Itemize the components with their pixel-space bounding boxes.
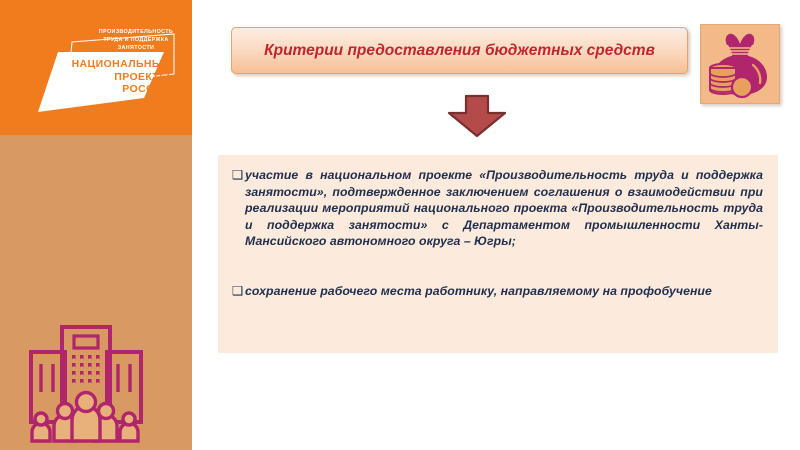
content-panel: ❑ участие в национальном проекте «Произв… <box>218 155 778 353</box>
list-item: ❑ участие в национальном проекте «Произв… <box>232 167 763 250</box>
list-item-text: сохранение рабочего места работнику, нап… <box>245 283 763 300</box>
logo-top-line: ПРОИЗВОДИТЕЛЬНОСТЬ ТРУДА И ПОДДЕРЖКА ЗАН… <box>84 28 188 53</box>
natsionalnye-proekty-rossii-logo: ПРОИЗВОДИТЕЛЬНОСТЬ ТРУДА И ПОДДЕРЖКА ЗАН… <box>28 20 180 118</box>
bullet-marker-icon: ❑ <box>232 283 245 300</box>
down-arrow-icon <box>444 93 510 139</box>
building-with-people-glyph <box>22 322 150 444</box>
building-with-people-icon <box>22 322 150 444</box>
down-arrow-glyph <box>444 93 510 139</box>
money-bag-icon <box>701 25 779 103</box>
list-item-text: участие в национальном проекте «Производ… <box>245 167 763 250</box>
page-title: Критерии предоставления бюджетных средст… <box>250 41 669 60</box>
left-side-band: ПРОИЗВОДИТЕЛЬНОСТЬ ТРУДА И ПОДДЕРЖКА ЗАН… <box>0 0 192 450</box>
title-banner: Критерии предоставления бюджетных средст… <box>231 27 688 74</box>
logo-main-line: НАЦИОНАЛЬНЫЕ ПРОЕКТЫ РОССИИ <box>42 58 170 96</box>
bullet-marker-icon: ❑ <box>232 167 245 184</box>
list-item: ❑ сохранение рабочего места работнику, н… <box>232 283 763 300</box>
money-bag-tile <box>700 24 780 104</box>
